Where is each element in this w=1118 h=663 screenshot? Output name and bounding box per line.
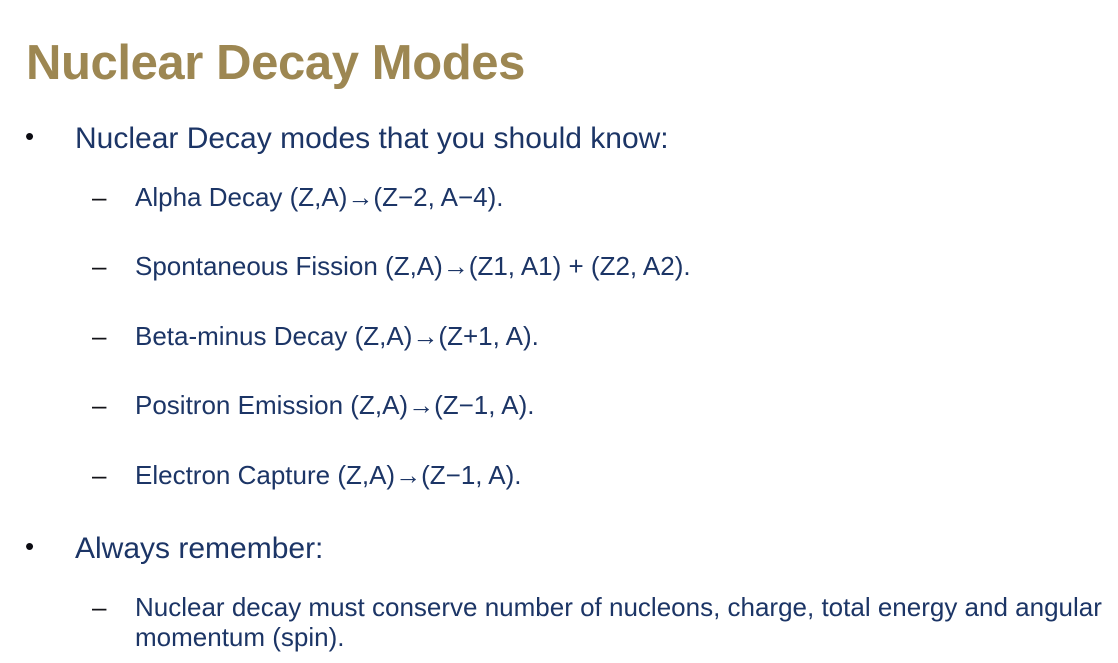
dash-icon: – [92, 183, 118, 213]
bullet-item-level2: – Nuclear decay must conserve number of … [0, 593, 1118, 652]
bullet-dot-icon: • [25, 532, 47, 561]
dash-icon: – [92, 391, 118, 421]
bullet-level2-label: Electron Capture (Z,A)→(Z−1, A). [135, 461, 1118, 491]
bullet-level1-label: Nuclear Decay modes that you should know… [75, 122, 669, 155]
bullet-level2-label: Beta-minus Decay (Z,A)→(Z+1, A). [135, 322, 1118, 352]
bullet-item-level1: • Always remember: [0, 532, 1118, 566]
bullet-item-level2: – Electron Capture (Z,A)→(Z−1, A). [0, 461, 1118, 491]
dash-icon: – [92, 322, 118, 352]
bullet-level2-label: Positron Emission (Z,A)→(Z−1, A). [135, 391, 1118, 421]
bullet-item-level1: • Nuclear Decay modes that you should kn… [0, 122, 1118, 156]
dash-icon: – [92, 461, 118, 491]
slide-canvas: Nuclear Decay Modes • Nuclear Decay mode… [0, 0, 1118, 663]
bullet-level2-label: Nuclear decay must conserve number of nu… [135, 593, 1118, 652]
bullet-item-level2: – Alpha Decay (Z,A)→(Z−2, A−4). [0, 183, 1118, 213]
dash-icon: – [92, 252, 118, 282]
bullet-level2-label: Spontaneous Fission (Z,A)→(Z1, A1) + (Z2… [135, 252, 1118, 282]
bullet-item-level2: – Spontaneous Fission (Z,A)→(Z1, A1) + (… [0, 252, 1118, 282]
bullet-item-level2: – Positron Emission (Z,A)→(Z−1, A). [0, 391, 1118, 421]
bullet-level2-label: Alpha Decay (Z,A)→(Z−2, A−4). [135, 183, 1118, 213]
page-title: Nuclear Decay Modes [26, 35, 525, 93]
bullet-item-level2: – Beta-minus Decay (Z,A)→(Z+1, A). [0, 322, 1118, 352]
bullet-dot-icon: • [25, 122, 47, 151]
dash-icon: – [92, 593, 118, 623]
slide-body: • Nuclear Decay modes that you should kn… [0, 122, 1118, 653]
bullet-level1-label: Always remember: [75, 532, 323, 565]
